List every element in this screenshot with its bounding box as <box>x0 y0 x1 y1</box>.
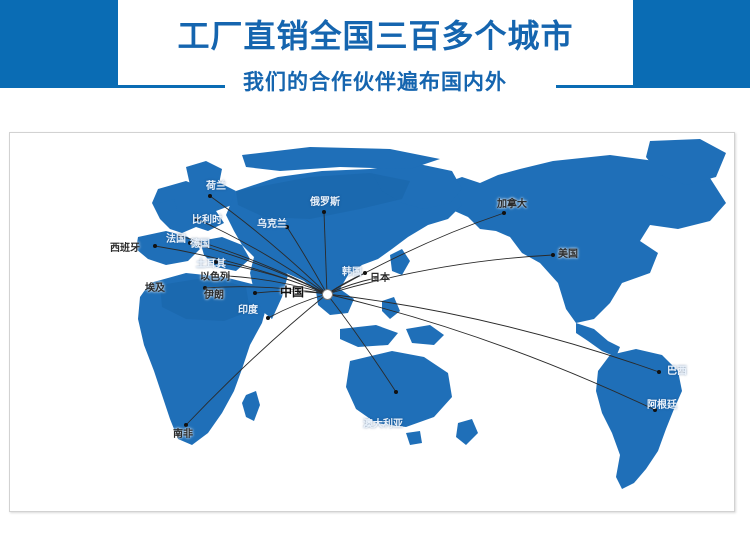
city-label-南非: 南非 <box>173 429 193 440</box>
city-label-日本: 日本 <box>370 273 390 284</box>
city-label-德国: 德国 <box>190 239 210 250</box>
hub-dot-china <box>322 289 333 300</box>
destination-dot-10 <box>253 291 257 295</box>
city-label-澳大利亚: 澳大利亚 <box>363 419 403 430</box>
world-map-graphic <box>10 133 735 512</box>
landmass-tasmania <box>406 431 422 445</box>
landmass-madagascar <box>242 391 260 421</box>
hub-label-china: 中国 <box>280 287 304 298</box>
destination-dot-14 <box>502 211 506 215</box>
landmass-arctic <box>242 147 440 171</box>
destination-dot-0 <box>208 194 212 198</box>
city-label-伊朗: 伊朗 <box>204 290 224 301</box>
page-subtitle: 我们的合作伙伴遍布国内外 <box>0 70 750 96</box>
city-label-美国: 美国 <box>558 249 578 260</box>
destination-dot-11 <box>266 316 270 320</box>
city-label-西班牙: 西班牙 <box>110 243 140 254</box>
landmass-indonesia-1 <box>340 325 398 347</box>
city-label-俄罗斯: 俄罗斯 <box>310 197 340 208</box>
landmass-indonesia-2 <box>406 325 444 345</box>
landmass-nz <box>456 419 478 445</box>
city-label-土耳其: 土耳其 <box>196 259 226 270</box>
city-label-乌克兰: 乌克兰 <box>257 219 287 230</box>
landmass-philippines <box>382 297 400 319</box>
destination-dot-15 <box>551 253 555 257</box>
city-label-巴西: 巴西 <box>667 366 687 377</box>
destination-dot-18 <box>184 423 188 427</box>
city-label-以色列: 以色列 <box>200 272 230 283</box>
landmass-japan <box>390 249 410 275</box>
destination-dot-19 <box>394 390 398 394</box>
city-label-韩国: 韩国 <box>342 267 362 278</box>
world-map-panel: 荷兰俄罗斯乌克兰比利时法国德国西班牙土耳其以色列埃及伊朗印度韩国日本加拿大美国巴… <box>9 132 735 512</box>
city-label-比利时: 比利时 <box>192 215 222 226</box>
destination-dot-16 <box>657 370 661 374</box>
city-label-加拿大: 加拿大 <box>497 199 527 210</box>
city-label-荷兰: 荷兰 <box>206 181 226 192</box>
page-header: 工厂直销全国三百多个城市 我们的合作伙伴遍布国内外 <box>0 0 750 112</box>
city-label-阿根廷: 阿根廷 <box>647 400 677 411</box>
page-title: 工厂直销全国三百多个城市 <box>118 18 633 54</box>
world-map-stage: 荷兰俄罗斯乌克兰比利时法国德国西班牙土耳其以色列埃及伊朗印度韩国日本加拿大美国巴… <box>10 133 735 512</box>
city-label-埃及: 埃及 <box>145 283 165 294</box>
landmass-australia <box>346 351 452 427</box>
city-label-印度: 印度 <box>238 305 258 316</box>
city-label-法国: 法国 <box>166 234 186 245</box>
destination-dot-6 <box>153 244 157 248</box>
destination-dot-12 <box>363 271 367 275</box>
destination-dot-1 <box>322 210 326 214</box>
